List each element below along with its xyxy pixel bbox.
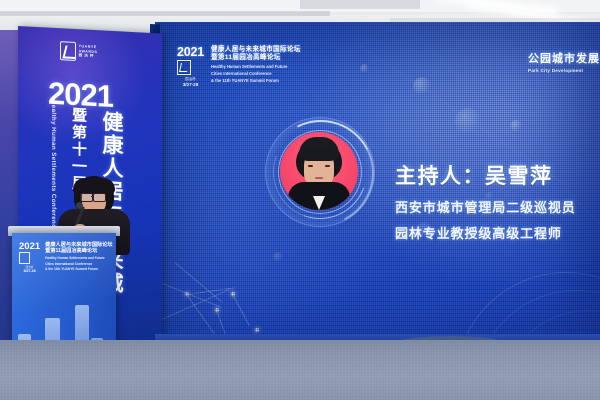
- host-title: 主持人：吴雪萍: [395, 160, 576, 190]
- podium-year: 2021: [19, 242, 40, 251]
- slide-text-block: 主持人：吴雪萍 西安市城市管理局二级巡视员 园林专业教授级高级工程师: [395, 160, 576, 242]
- glasses-icon: [93, 193, 106, 202]
- led-header-cn-line2: 暨第11届园冶高峰论坛: [211, 54, 301, 62]
- led-header-en-line3: & the 11th YUANYE Summit Forum: [211, 78, 301, 83]
- host-portrait: [265, 117, 373, 225]
- podium-en-line1: Healthy Human Settlements and Future: [45, 256, 112, 260]
- glasses-icon: [80, 193, 93, 202]
- yuanye-awards-logo: YUANYE AWARDS 园 冶 杯: [60, 40, 106, 62]
- park-city-en: Park City Development: [528, 68, 600, 73]
- podium-date: 3/27-28: [19, 269, 40, 273]
- yuanye-mark-icon: [177, 60, 191, 75]
- yuanye-mark-icon: [19, 252, 30, 264]
- podium-en-line2: Cities International Conference: [45, 262, 112, 266]
- avatar: [280, 132, 358, 210]
- led-header-logo-sub: 园冶杯: [177, 76, 204, 81]
- conference-stage-photo: 2021 园冶杯 3/27-28 健康人居与未来城市国际论坛 暨第11届园冶高峰…: [0, 0, 600, 400]
- park-city-cn: 公园城市发展: [528, 50, 600, 66]
- led-header-date: 3/27-28: [177, 82, 204, 87]
- host-credential-line2: 园林专业教授级高级工程师: [395, 223, 576, 242]
- led-header-en-line1: Healthy Human Settlements and Future: [211, 64, 301, 69]
- podium-logo-lockup: 2021 园冶杯 3/27-28 健康人居与未来城市国际论坛 暨第11届园冶高峰…: [19, 242, 113, 273]
- yuanye-mark-icon: [60, 41, 76, 61]
- led-header-year: 2021: [177, 46, 204, 58]
- microphone-head-icon: [76, 202, 83, 209]
- floor-carpet: [0, 340, 600, 400]
- park-city-label: 公园城市发展 Park City Development: [528, 50, 600, 73]
- podium-en-line3: & the 11th YUANYE Summit Forum: [45, 267, 112, 271]
- led-header-en-line2: Cities International Conference: [211, 71, 301, 76]
- banner-logo-sub: 园 冶 杯: [79, 53, 106, 59]
- led-header-logo: 2021 园冶杯 3/27-28 健康人居与未来城市国际论坛 暨第11届园冶高峰…: [177, 46, 301, 87]
- podium-cn-line2: 暨第11届园冶高峰论坛: [45, 248, 112, 254]
- carpet-texture: [0, 340, 600, 400]
- host-credential-line1: 西安市城市管理局二级巡视员: [395, 197, 576, 216]
- led-video-wall: 2021 园冶杯 3/27-28 健康人居与未来城市国际论坛 暨第11届园冶高峰…: [155, 22, 600, 360]
